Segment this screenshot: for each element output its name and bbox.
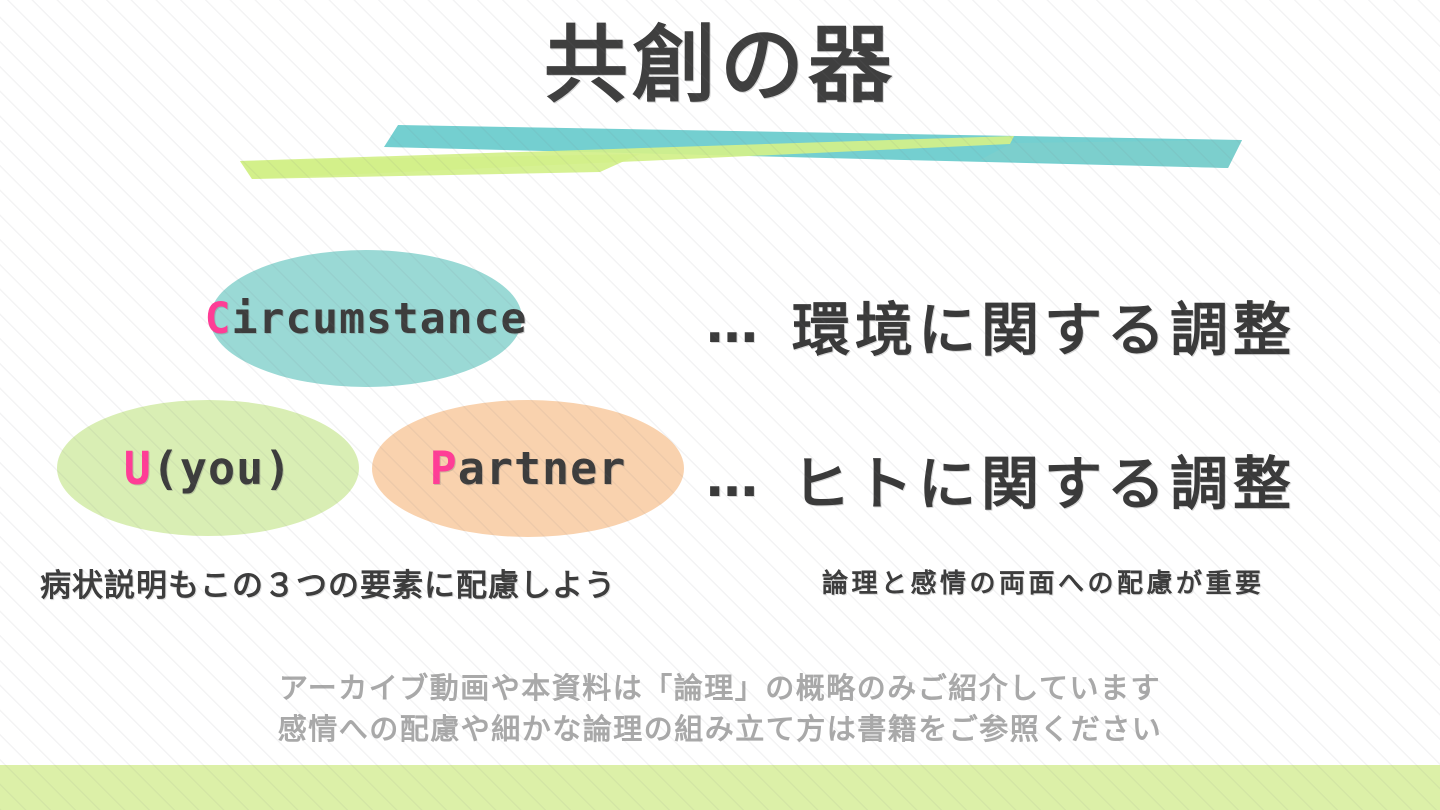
bubble-partner-rest: artner	[458, 442, 627, 495]
teal-ribbon-tail	[980, 140, 1242, 168]
description-text-environment: 環境に関する調整	[792, 283, 1296, 367]
caption-right: 論理と感情の両面への配慮が重要	[822, 563, 1265, 600]
ellipsis-icon-2: …	[706, 453, 758, 505]
caption-left: 病状説明もこの３つの要素に配慮しよう	[40, 560, 616, 605]
footnote-line-2: 感情への配慮や細かな論理の組み立て方は書籍をご参照ください	[0, 709, 1440, 750]
bubble-you-rest: (you)	[152, 442, 292, 495]
bubble-circumstance-label: Circumstance	[205, 294, 528, 344]
description-row-environment: … 環境に関する調整	[706, 283, 1296, 367]
bubble-you-label: U(you)	[124, 442, 293, 495]
green-ribbon-left-wedge	[240, 154, 640, 179]
bubble-circumstance[interactable]: Circumstance	[210, 250, 522, 387]
bubble-circumstance-rest: ircumstance	[232, 294, 528, 344]
ellipsis-icon-1: …	[706, 299, 758, 351]
slide-canvas: 共創の器 Circumstance U(you) Partner … 環境に関す…	[0, 0, 1440, 810]
bubble-you-initial: U	[124, 442, 152, 495]
bubble-partner-label: Partner	[430, 442, 627, 495]
bubble-partner[interactable]: Partner	[372, 400, 684, 537]
description-text-people: ヒトに関する調整	[792, 437, 1296, 521]
bubble-you[interactable]: U(you)	[57, 400, 359, 536]
page-title: 共創の器	[0, 18, 1440, 112]
footnote-line-1: アーカイブ動画や本資料は「論理」の概略のみご紹介しています	[0, 668, 1440, 709]
bottom-accent-bar	[0, 765, 1440, 810]
bubble-circumstance-initial: C	[205, 294, 232, 344]
footnote-block: アーカイブ動画や本資料は「論理」の概略のみご紹介しています 感情への配慮や細かな…	[0, 668, 1440, 750]
bubble-partner-initial: P	[430, 442, 458, 495]
description-row-people: … ヒトに関する調整	[706, 437, 1296, 521]
